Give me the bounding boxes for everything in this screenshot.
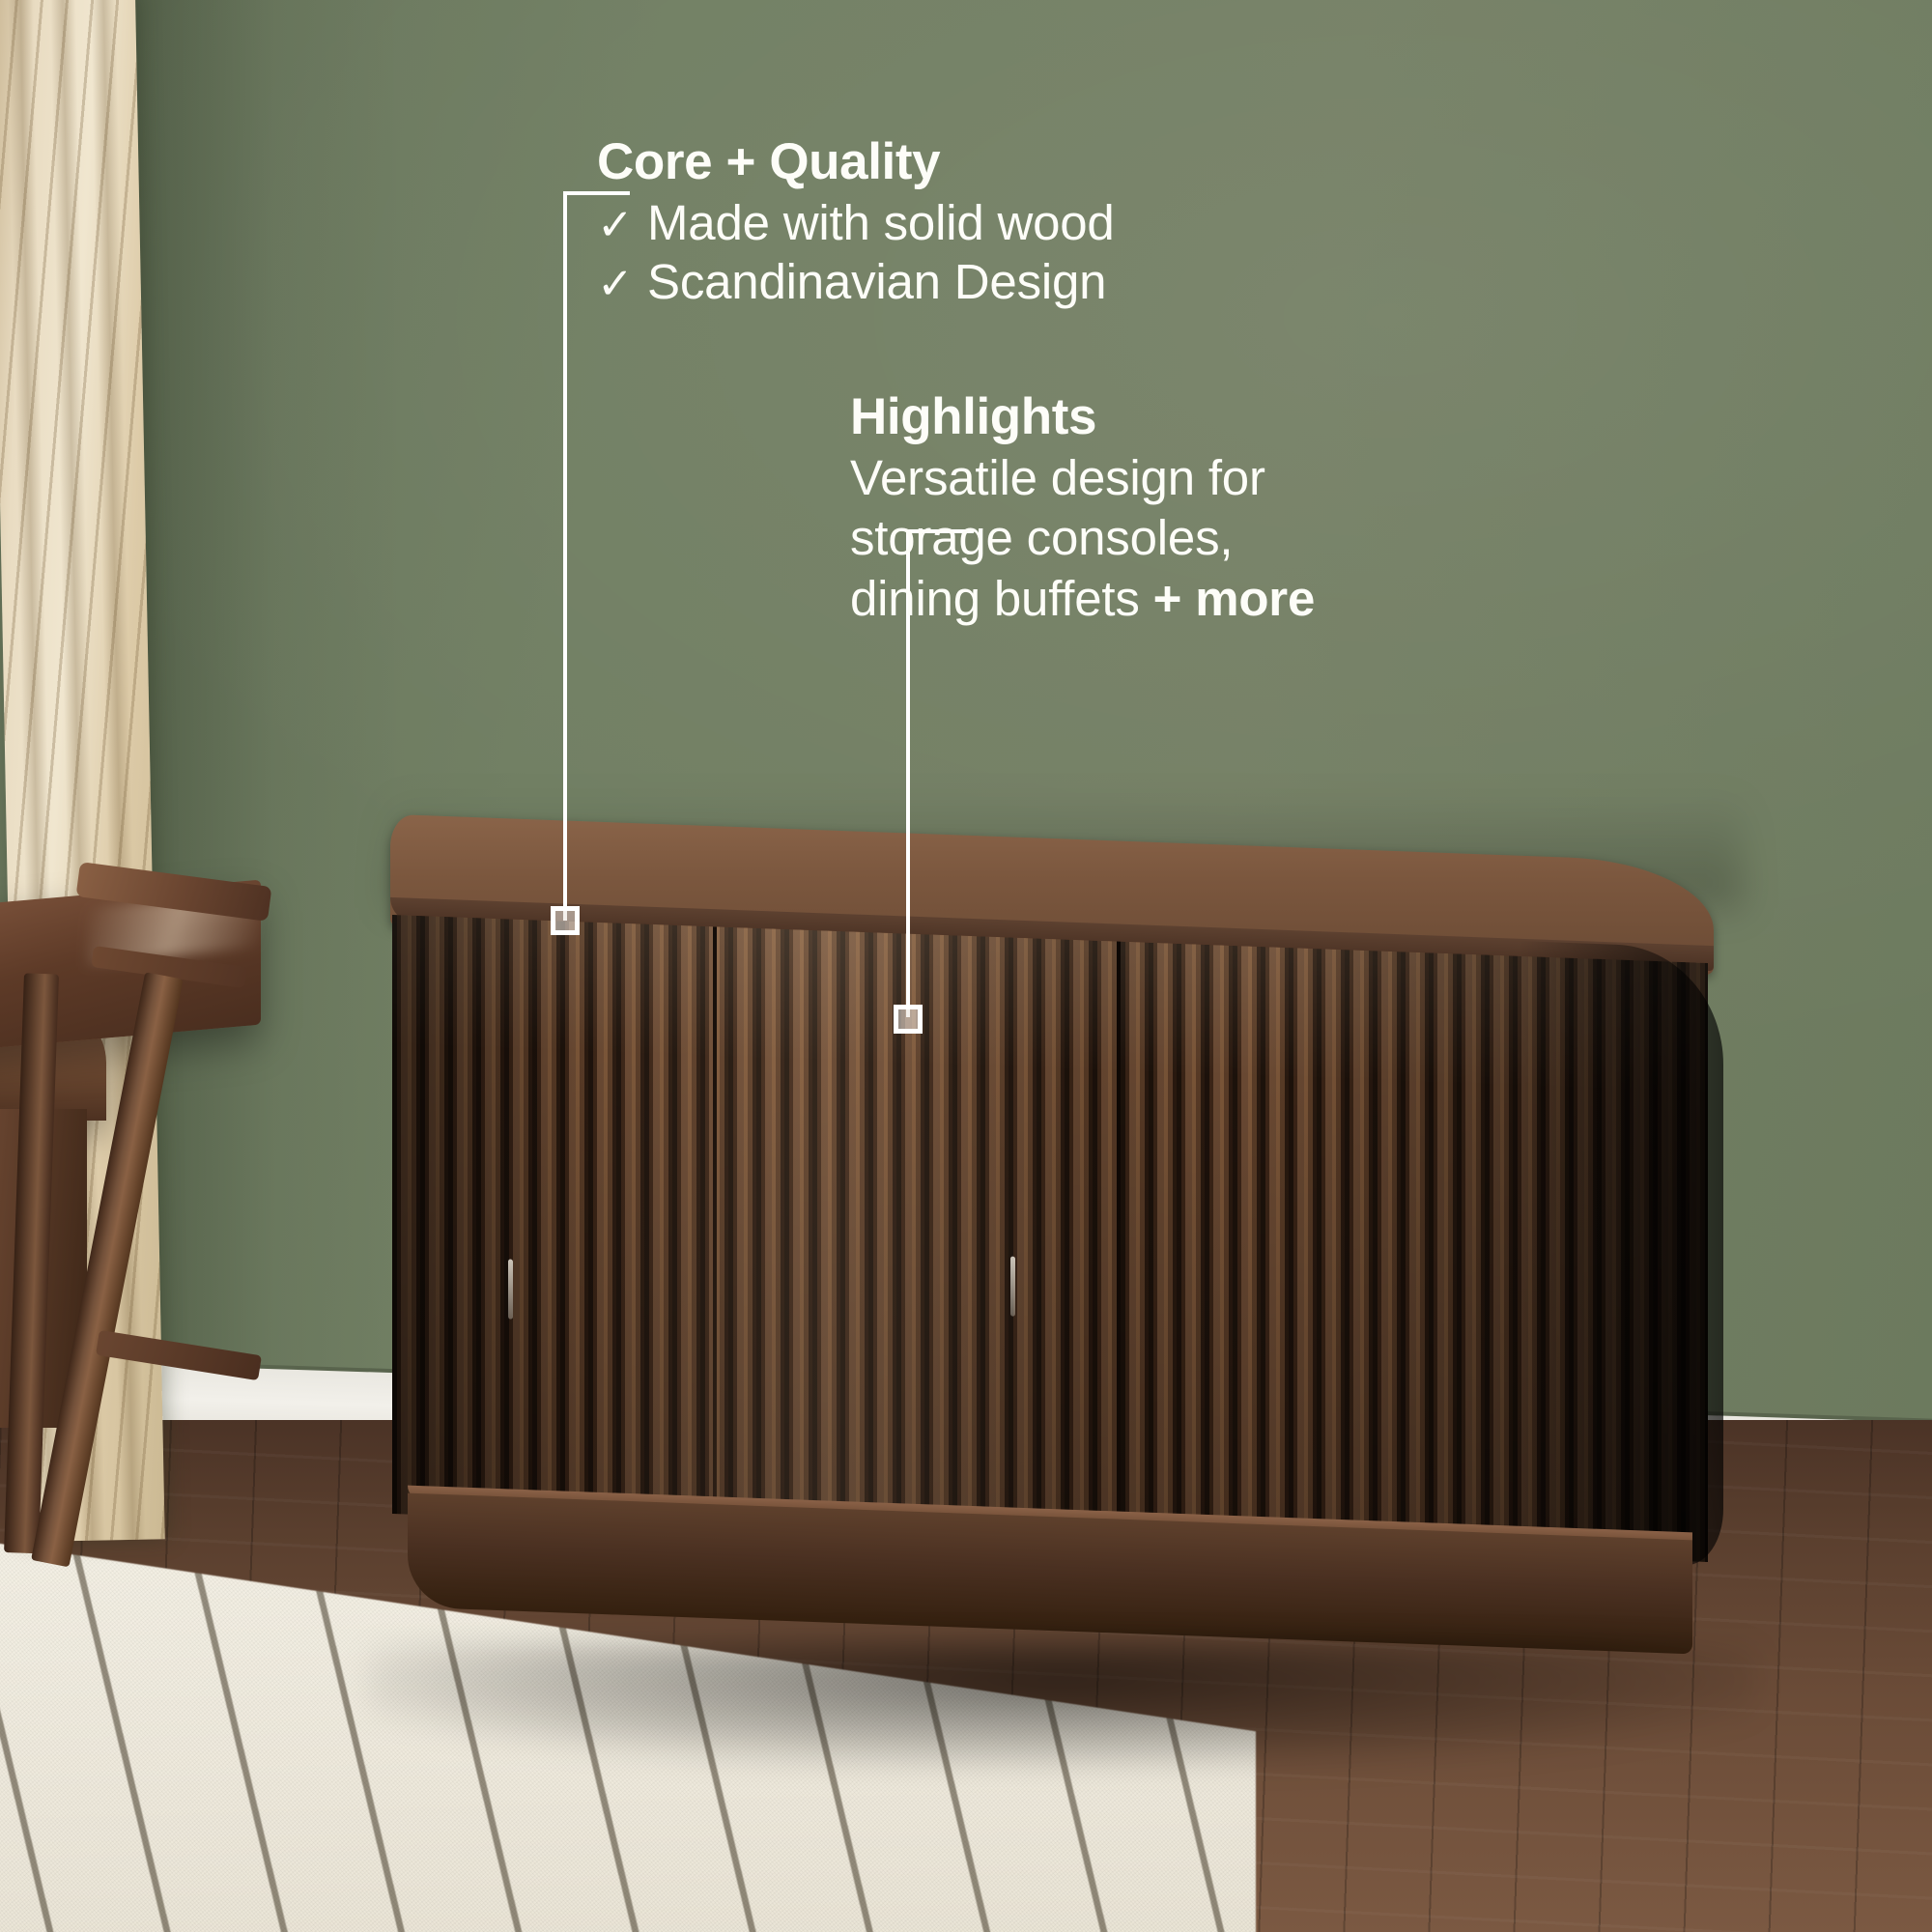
core-quality-bullet-list: ✓Made with solid wood ✓Scandinavian Desi… [597,193,1115,311]
callout-heading-core-quality: Core + Quality [597,135,1115,189]
highlights-body: Versatile design for storage consoles, d… [850,448,1315,629]
bullet-text: Scandinavian Design [647,254,1106,309]
bullet-item: ✓Made with solid wood [597,193,1115,252]
highlights-emphasis: + more [1153,571,1315,626]
highlights-line-2: storage consoles, [850,510,1233,565]
bullet-text: Made with solid wood [647,195,1115,250]
highlights-line-1: Versatile design for [850,450,1265,505]
callout-highlights: Highlights Versatile design for storage … [850,390,1315,629]
callout-marker-1 [551,906,580,935]
check-icon: ✓ [597,199,647,251]
bullet-item: ✓Scandinavian Design [597,252,1115,311]
product-lifestyle-image: Core + Quality ✓Made with solid wood ✓Sc… [0,0,1932,1932]
check-icon: ✓ [597,258,647,310]
callout-core-quality: Core + Quality ✓Made with solid wood ✓Sc… [597,135,1115,312]
callout-marker-2 [894,1005,923,1034]
highlights-line-3: dining buffets [850,571,1153,626]
callout-heading-highlights: Highlights [850,390,1315,444]
leader-line-vertical-1 [563,191,567,921]
